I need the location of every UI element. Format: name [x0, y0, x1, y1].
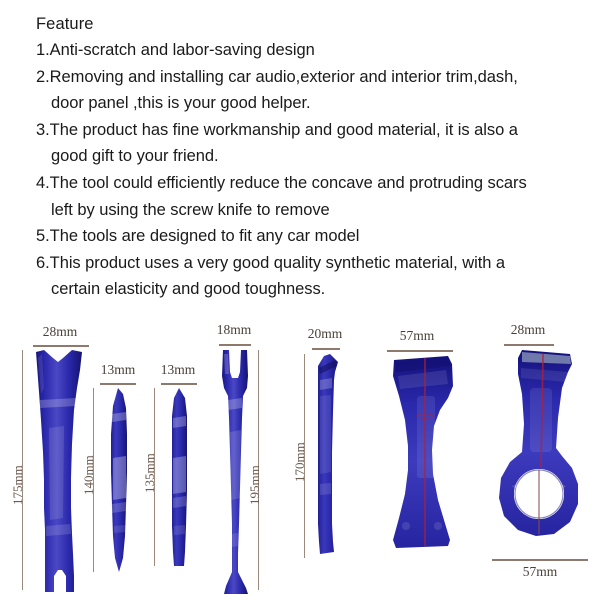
- feature-item-6-line-2: certain elasticity and good toughness.: [36, 276, 584, 303]
- tool-1-length-label: 175mm: [10, 465, 26, 505]
- tool-7-top-width-rule: [504, 344, 554, 346]
- tool-6-shape: [386, 354, 460, 550]
- tool-2-shape: [100, 386, 140, 576]
- tool-7-shape: [488, 348, 590, 552]
- feature-text-block: Feature 1.Anti-scratch and labor-saving …: [36, 11, 584, 303]
- tool-5-shape: [310, 352, 346, 560]
- feature-item-3-line-1: 3.The product has fine workmanship and g…: [36, 117, 584, 144]
- feature-item-4-line-2: left by using the screw knife to remove: [36, 197, 584, 224]
- feature-item-2-line-2: door panel ,this is your good helper.: [36, 90, 584, 117]
- tool-6-width-rule: [387, 350, 453, 352]
- tool-5-length-label: 170mm: [292, 442, 308, 482]
- tool-4-width-rule: [219, 344, 251, 346]
- feature-item-6-line-1: 6.This product uses a very good quality …: [36, 250, 584, 277]
- tool-5-width-label: 20mm: [295, 326, 355, 342]
- tool-6-width-label: 57mm: [382, 328, 452, 344]
- feature-item-3-line-2: good gift to your friend.: [36, 143, 584, 170]
- feature-item-4-line-1: 4.The tool could efficiently reduce the …: [36, 170, 584, 197]
- tool-3-width-label: 13mm: [150, 362, 206, 378]
- feature-item-2-line-1: 2.Removing and installing car audio,exte…: [36, 64, 584, 91]
- tool-4-shape: [216, 348, 258, 596]
- product-detail-page: Feature 1.Anti-scratch and labor-saving …: [0, 0, 600, 600]
- tool-4-width-label: 18mm: [206, 322, 262, 338]
- tool-1-width-label: 28mm: [30, 324, 90, 340]
- tool-7-bottom-width-label: 57mm: [505, 564, 575, 580]
- tool-7-bottom-width-rule: [492, 559, 588, 561]
- tool-3-width-rule: [161, 383, 197, 385]
- feature-item-5-line-1: 5.The tools are designed to fit any car …: [36, 223, 584, 250]
- tool-5-width-rule: [312, 348, 340, 350]
- tool-2-length-label: 140mm: [81, 455, 97, 495]
- feature-heading: Feature: [36, 11, 584, 37]
- tool-2-width-rule: [100, 383, 136, 385]
- tool-2-width-label: 13mm: [90, 362, 146, 378]
- feature-item-1-line-1: 1.Anti-scratch and labor-saving design: [36, 37, 584, 64]
- tool-7-top-width-label: 28mm: [496, 322, 560, 338]
- tool-1-width-rule: [33, 345, 89, 347]
- tool-3-length-label: 135mm: [142, 453, 158, 493]
- tool-3-shape: [161, 386, 199, 570]
- tool-dimension-diagram: 28mm 175mm 13mm 140mm: [0, 300, 600, 600]
